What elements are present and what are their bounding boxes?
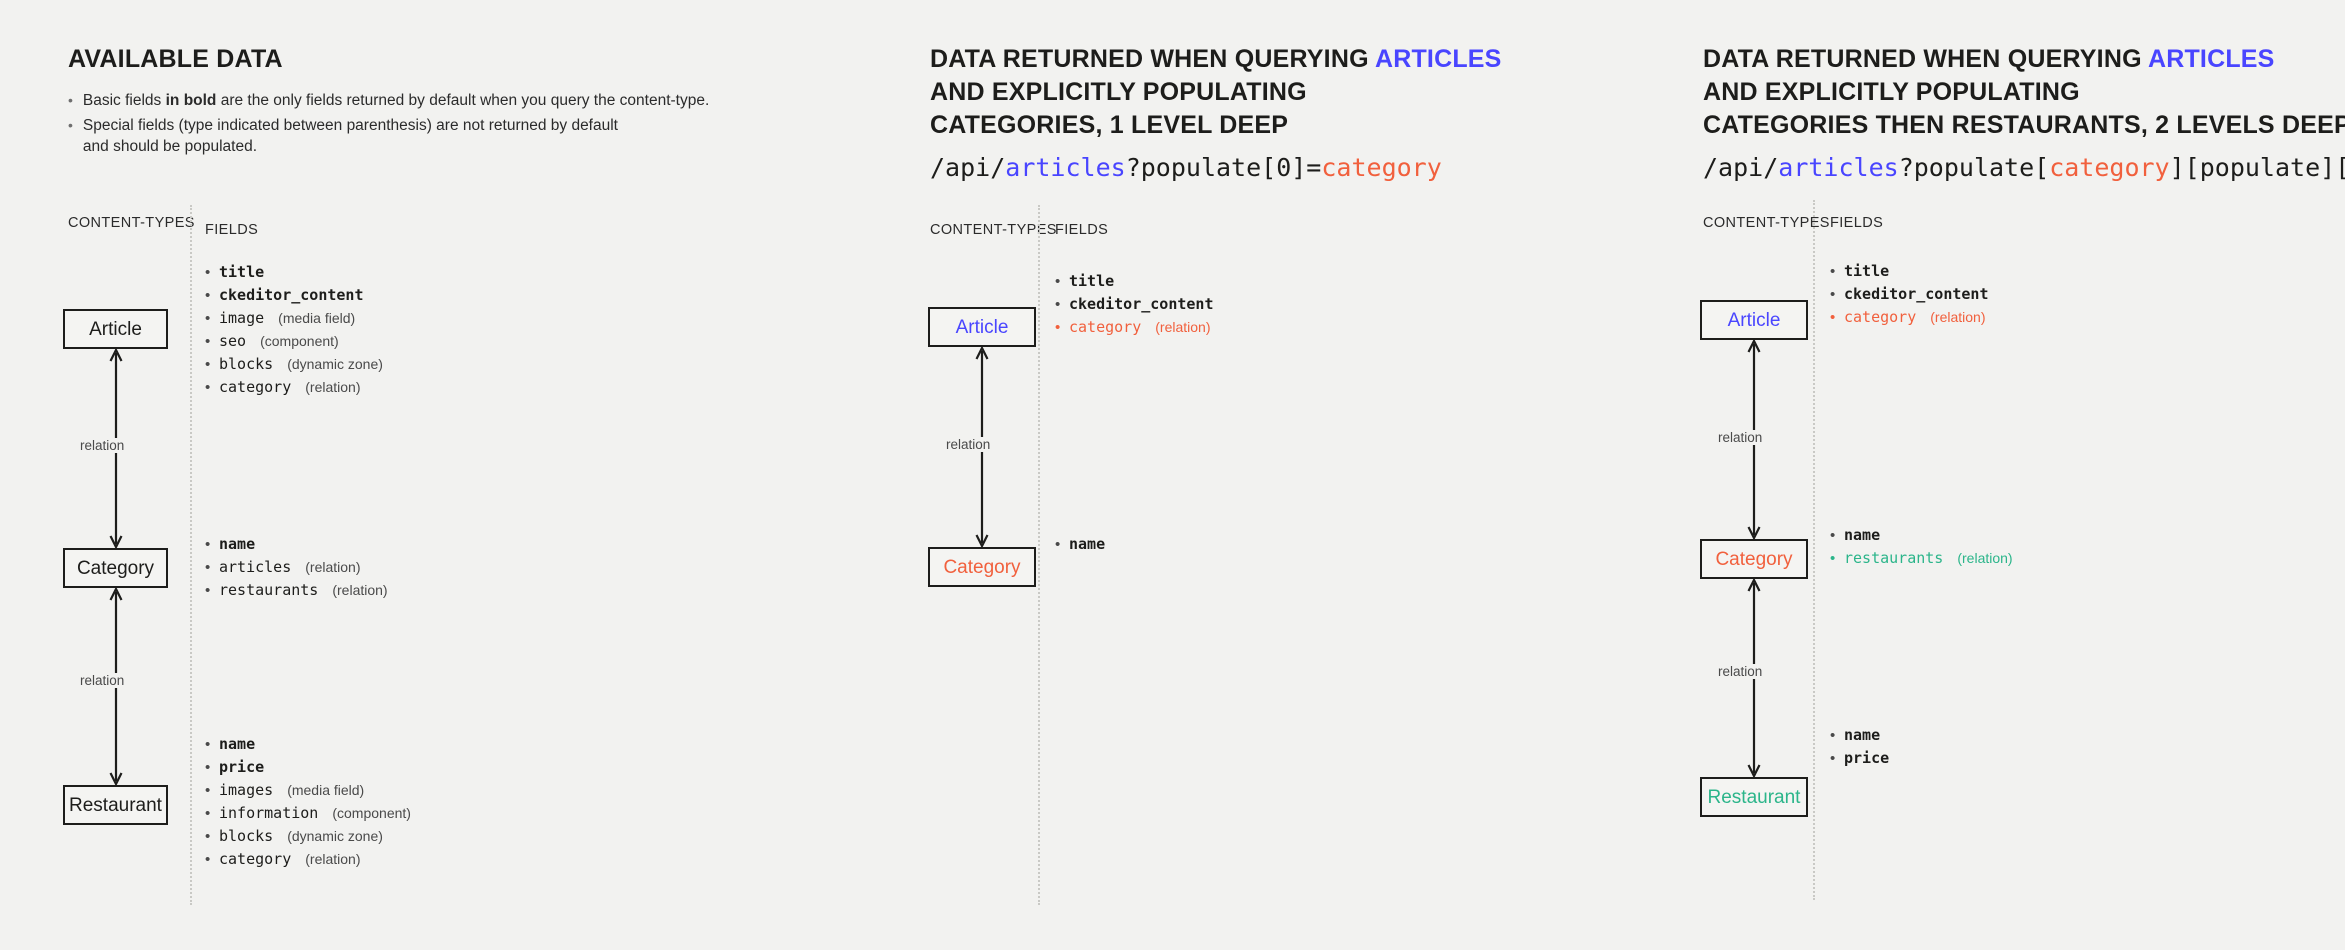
field-name: blocks — [219, 353, 273, 376]
page-title: AVAILABLE DATA — [68, 43, 709, 76]
field-row: •category(relation) — [1830, 306, 2003, 329]
node-category-label: Category — [77, 559, 154, 578]
panel-3-header: DATA RETURNED WHEN QUERYING ARTICLES AND… — [1703, 43, 2345, 185]
field-bullet-icon: • — [205, 802, 210, 825]
fields-category: •name — [1055, 533, 1119, 556]
field-type: (relation) — [1155, 316, 1210, 339]
api-part-populate: ?populate[0]= — [1126, 153, 1322, 182]
field-name: category — [1844, 306, 1916, 329]
field-name: category — [1069, 316, 1141, 339]
panel-2-header: DATA RETURNED WHEN QUERYING ARTICLES AND… — [930, 43, 1502, 185]
node-category-label: Category — [1715, 550, 1792, 569]
field-name: category — [219, 376, 291, 399]
field-row: •name — [1830, 524, 2013, 547]
panel-3-title-line-3: CATEGORIES THEN RESTAURANTS, 2 LEVELS DE… — [1703, 109, 2345, 142]
field-name: restaurants — [1844, 547, 1943, 570]
field-name: images — [219, 779, 273, 802]
panel-populate-1-level: DATA RETURNED WHEN QUERYING ARTICLES AND… — [855, 0, 1620, 950]
panel-3-column-divider — [1813, 200, 1815, 900]
intro-line2a: Special fields (type indicated between p… — [83, 117, 618, 134]
field-name: seo — [219, 330, 246, 353]
panel-1-column-divider — [190, 205, 192, 905]
column-label-fields: FIELDS — [205, 222, 258, 238]
title-prefix: DATA RETURNED WHEN QUERYING — [930, 45, 1375, 73]
field-name: ckeditor_content — [1069, 293, 1214, 316]
api-part-prefix: /api/ — [930, 153, 1005, 182]
field-bullet-icon: • — [205, 284, 210, 307]
field-bullet-icon: • — [1830, 724, 1835, 747]
panel-3-title-line-1: DATA RETURNED WHEN QUERYING ARTICLES — [1703, 43, 2345, 76]
node-category[interactable]: Category — [63, 548, 168, 588]
field-row: •name — [1830, 724, 1903, 747]
field-bullet-icon: • — [205, 556, 210, 579]
fields-category: •name •articles(relation) •restaurants(r… — [205, 533, 388, 602]
api-part-prefix: /api/ — [1703, 153, 1778, 182]
field-row: •title — [205, 261, 383, 284]
api-part-articles: articles — [1005, 153, 1125, 182]
field-bullet-icon: • — [205, 533, 210, 556]
panel-2-title-line-2: AND EXPLICITLY POPULATING — [930, 76, 1502, 109]
field-name: title — [1844, 260, 1889, 283]
field-row: •title — [1055, 270, 1228, 293]
field-row: •images(media field) — [205, 779, 411, 802]
column-label-fields: FIELDS — [1055, 222, 1108, 238]
fields-article: •title •ckeditor_content •image(media fi… — [205, 261, 383, 399]
column-label-fields: FIELDS — [1830, 215, 1883, 231]
field-bullet-icon: • — [1055, 316, 1060, 339]
field-row: •restaurants(relation) — [205, 579, 388, 602]
field-row: •category(relation) — [205, 376, 383, 399]
intro-line1-bold: in bold — [166, 92, 217, 109]
field-name: name — [219, 533, 255, 556]
field-bullet-icon: • — [205, 261, 210, 284]
field-row: •blocks(dynamic zone) — [205, 825, 411, 848]
node-restaurant-label: Restaurant — [69, 796, 162, 815]
field-type: (dynamic zone) — [287, 825, 383, 848]
field-row: •articles(relation) — [205, 556, 388, 579]
api-part-populate-inner: ][populate][0]= — [2170, 153, 2345, 182]
field-row: •price — [205, 756, 411, 779]
title-prefix: DATA RETURNED WHEN QUERYING — [1703, 45, 2148, 73]
field-name: articles — [219, 556, 291, 579]
api-path-1-level: /api/articles?populate[0]=category — [930, 151, 1502, 185]
fields-article: •title •ckeditor_content •category(relat… — [1830, 260, 2003, 329]
intro-bullets: • Basic fields in bold are the only fiel… — [68, 90, 709, 157]
title-highlight-articles: ARTICLES — [2148, 45, 2275, 73]
panel-2-title-line-1: DATA RETURNED WHEN QUERYING ARTICLES — [930, 43, 1502, 76]
panel-2-title-line-3: CATEGORIES, 1 LEVEL DEEP — [930, 109, 1502, 142]
field-type: (relation) — [305, 376, 360, 399]
field-type: (component) — [260, 330, 339, 353]
relation-label-1: relation — [943, 437, 993, 452]
field-name: name — [1069, 533, 1105, 556]
field-name: blocks — [219, 825, 273, 848]
fields-restaurant: •name •price — [1830, 724, 1903, 770]
field-name: title — [219, 261, 264, 284]
field-type: (relation) — [305, 848, 360, 871]
panel-available-data: AVAILABLE DATA • Basic fields in bold ar… — [0, 0, 855, 950]
field-type: (dynamic zone) — [287, 353, 383, 376]
field-row: •image(media field) — [205, 307, 383, 330]
field-name: title — [1069, 270, 1114, 293]
field-row: •ckeditor_content — [1830, 283, 2003, 306]
intro-line1-post: are the only fields returned by default … — [216, 92, 709, 109]
field-row: •ckeditor_content — [205, 284, 383, 307]
field-row: •blocks(dynamic zone) — [205, 353, 383, 376]
field-type: (component) — [332, 802, 411, 825]
intro-bullet-1: • Basic fields in bold are the only fiel… — [68, 90, 709, 111]
node-restaurant-label: Restaurant — [1708, 788, 1801, 807]
node-article[interactable]: Article — [928, 307, 1036, 347]
field-name: information — [219, 802, 318, 825]
field-bullet-icon: • — [205, 733, 210, 756]
panel-1-header: AVAILABLE DATA • Basic fields in bold ar… — [68, 43, 709, 161]
field-type: (relation) — [1957, 547, 2012, 570]
fields-article: •title •ckeditor_content •category(relat… — [1055, 270, 1228, 339]
field-name: image — [219, 307, 264, 330]
api-path-2-levels: /api/articles?populate[category][populat… — [1703, 151, 2345, 185]
field-bullet-icon: • — [1830, 524, 1835, 547]
field-type: (relation) — [332, 579, 387, 602]
field-row: •restaurants(relation) — [1830, 547, 2013, 570]
field-name: name — [1844, 724, 1880, 747]
field-row: •name — [1055, 533, 1119, 556]
field-bullet-icon: • — [1055, 533, 1060, 556]
field-name: ckeditor_content — [219, 284, 364, 307]
node-restaurant[interactable]: Restaurant — [1700, 777, 1808, 817]
field-name: ckeditor_content — [1844, 283, 1989, 306]
field-bullet-icon: • — [205, 579, 210, 602]
api-part-category: category — [2049, 153, 2169, 182]
field-row: •information(component) — [205, 802, 411, 825]
field-bullet-icon: • — [1055, 293, 1060, 316]
relation-label-2: relation — [77, 673, 127, 688]
field-bullet-icon: • — [1830, 547, 1835, 570]
field-bullet-icon: • — [1830, 283, 1835, 306]
field-row: •seo(component) — [205, 330, 383, 353]
field-row: •name — [205, 733, 411, 756]
panel-2-column-divider — [1038, 205, 1040, 905]
field-bullet-icon: • — [205, 307, 210, 330]
field-row: •category(relation) — [205, 848, 411, 871]
field-bullet-icon: • — [1055, 270, 1060, 293]
node-category[interactable]: Category — [1700, 539, 1808, 579]
column-label-content-types: CONTENT-TYPES — [68, 215, 195, 231]
bullet-dot-icon: • — [68, 115, 73, 157]
api-part-category: category — [1321, 153, 1441, 182]
column-label-content-types: CONTENT-TYPES — [1703, 215, 1830, 231]
node-category[interactable]: Category — [928, 547, 1036, 587]
node-article-label: Article — [956, 318, 1009, 337]
field-bullet-icon: • — [205, 353, 210, 376]
field-row: •title — [1830, 260, 2003, 283]
panel-populate-2-levels: DATA RETURNED WHEN QUERYING ARTICLES AND… — [1620, 0, 2345, 950]
fields-restaurant: •name •price •images(media field) •infor… — [205, 733, 411, 871]
field-type: (relation) — [1930, 306, 1985, 329]
node-article-label: Article — [1728, 311, 1781, 330]
fields-category: •name •restaurants(relation) — [1830, 524, 2013, 570]
field-bullet-icon: • — [205, 779, 210, 802]
panel-3-title-line-2: AND EXPLICITLY POPULATING — [1703, 76, 2345, 109]
node-article[interactable]: Article — [63, 309, 168, 349]
field-name: restaurants — [219, 579, 318, 602]
node-category-label: Category — [943, 558, 1020, 577]
title-highlight-articles: ARTICLES — [1375, 45, 1502, 73]
field-bullet-icon: • — [205, 825, 210, 848]
field-name: name — [1844, 524, 1880, 547]
node-article[interactable]: Article — [1700, 300, 1808, 340]
field-type: (media field) — [278, 307, 355, 330]
field-type: (relation) — [305, 556, 360, 579]
api-part-articles: articles — [1778, 153, 1898, 182]
intro-bullet-2: • Special fields (type indicated between… — [68, 115, 709, 157]
field-type: (media field) — [287, 779, 364, 802]
field-row: •price — [1830, 747, 1903, 770]
field-name: category — [219, 848, 291, 871]
field-name: price — [1844, 747, 1889, 770]
field-row: •name — [205, 533, 388, 556]
node-restaurant[interactable]: Restaurant — [63, 785, 168, 825]
field-bullet-icon: • — [205, 330, 210, 353]
field-bullet-icon: • — [1830, 260, 1835, 283]
field-bullet-icon: • — [1830, 306, 1835, 329]
field-name: name — [219, 733, 255, 756]
field-row: •category(relation) — [1055, 316, 1228, 339]
intro-line2b: and should be populated. — [83, 138, 257, 155]
node-article-label: Article — [89, 320, 142, 339]
api-part-populate-open: ?populate[ — [1899, 153, 2050, 182]
field-name: price — [219, 756, 264, 779]
relation-label-1: relation — [77, 438, 127, 453]
bullet-dot-icon: • — [68, 90, 73, 111]
field-row: •ckeditor_content — [1055, 293, 1228, 316]
field-bullet-icon: • — [205, 756, 210, 779]
field-bullet-icon: • — [1830, 747, 1835, 770]
field-bullet-icon: • — [205, 376, 210, 399]
field-bullet-icon: • — [205, 848, 210, 871]
relation-label-2: relation — [1715, 664, 1765, 679]
relation-label-1: relation — [1715, 430, 1765, 445]
intro-line1-pre: Basic fields — [83, 92, 166, 109]
